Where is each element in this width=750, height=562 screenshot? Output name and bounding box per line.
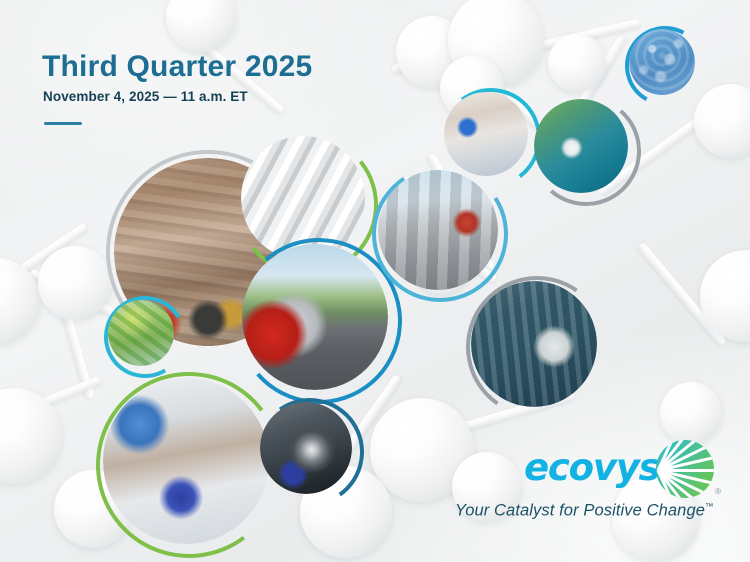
page-title: Third Quarter 2025 <box>42 50 312 84</box>
circle-photo-bearing-assembly <box>260 402 352 494</box>
molecule-atom <box>660 382 722 444</box>
logo-wordmark: ecovyst <box>524 446 676 489</box>
molecule-bond <box>637 242 727 347</box>
molecule-atom <box>396 16 468 88</box>
molecule-bond <box>0 222 89 308</box>
circle-photo-flask-chemist <box>103 378 269 544</box>
flask-chemist-image <box>103 378 269 544</box>
molecule-atom <box>700 250 750 342</box>
circle-photo-green-foliage <box>108 300 174 366</box>
molecule-bond <box>56 291 95 399</box>
presentation-title-slide: Third Quarter 2025 November 4, 2025 — 11… <box>0 0 750 562</box>
chemical-plant-image <box>471 281 597 407</box>
tanker-inspection-image <box>378 170 498 290</box>
brand-tagline-text: Your Catalyst for Positive Change <box>455 502 705 520</box>
molecule-bond <box>391 21 526 75</box>
circle-photo-chemical-plant <box>471 281 597 407</box>
registered-trademark-mark: ® <box>715 487 721 496</box>
circle-photo-water-droplets <box>629 29 695 95</box>
molecule-atom <box>0 388 62 484</box>
company-logo: ecovyst ® <box>524 440 714 498</box>
circle-photo-ev-charging <box>534 99 628 193</box>
molecule-bond <box>493 18 641 61</box>
logo-sunburst-icon <box>656 440 714 498</box>
molecule-atom <box>548 34 606 92</box>
water-droplets-image <box>629 29 695 95</box>
molecule-atom <box>370 398 474 502</box>
accent-rule <box>44 122 82 125</box>
molecule-atom <box>694 84 750 158</box>
molecule-atom <box>166 0 236 52</box>
red-truck-image <box>242 244 388 390</box>
bearing-assembly-image <box>260 402 352 494</box>
trademark-mark: ™ <box>705 501 714 511</box>
page-subtitle: November 4, 2025 — 11 a.m. ET <box>43 89 248 104</box>
circle-photo-tanker-inspection <box>378 170 498 290</box>
circle-photo-red-truck <box>242 244 388 390</box>
molecule-atom <box>0 258 40 344</box>
molecule-atom <box>38 246 112 320</box>
green-foliage-image <box>108 300 174 366</box>
ev-charging-image <box>534 99 628 193</box>
circle-photo-lab-sampling <box>444 92 528 176</box>
molecule-bond <box>0 376 102 433</box>
molecule-atom <box>448 0 544 88</box>
lab-sampling-image <box>444 92 528 176</box>
brand-tagline: Your Catalyst for Positive Change™ <box>455 501 714 521</box>
